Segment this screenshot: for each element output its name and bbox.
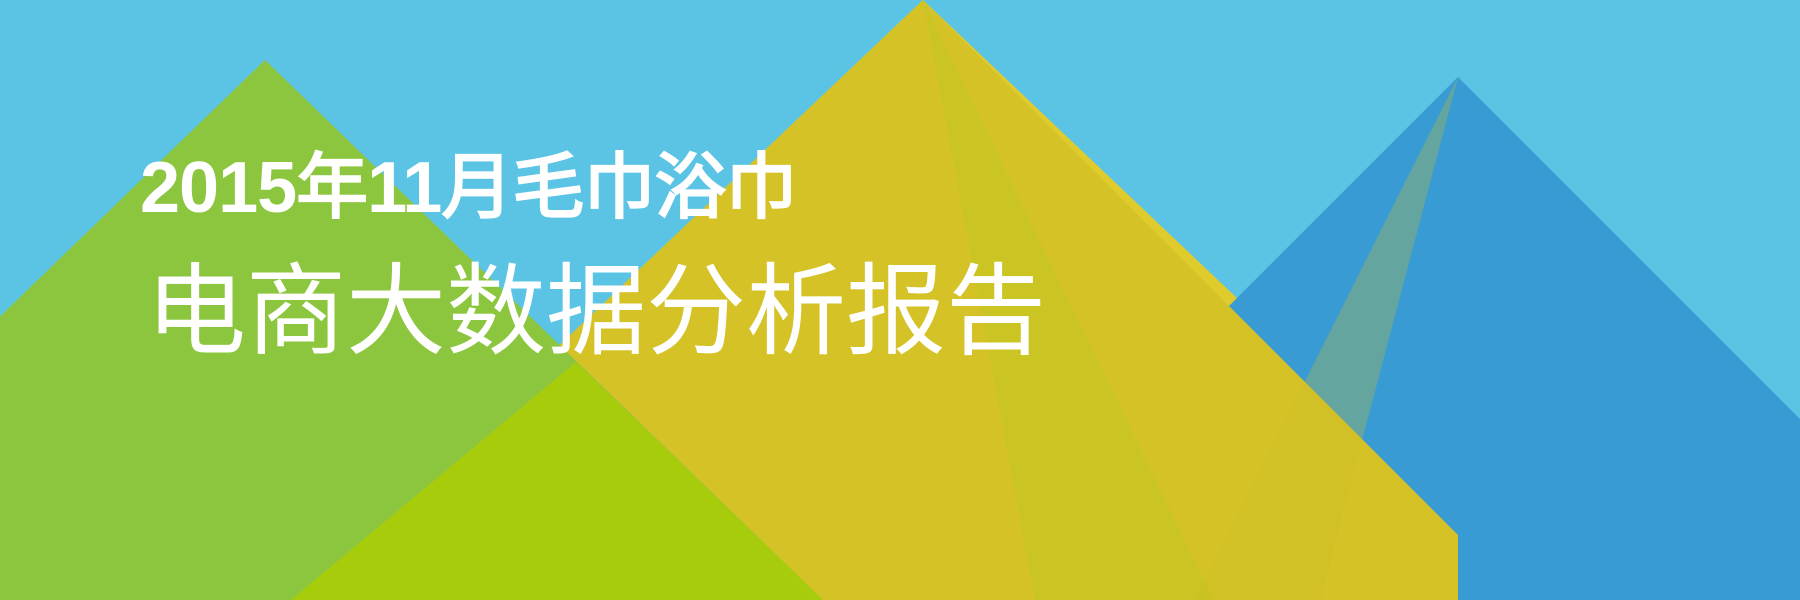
report-cover-banner: 2015年11月毛巾浴巾 电商大数据分析报告 — [0, 0, 1800, 600]
geometric-background — [0, 0, 1800, 600]
